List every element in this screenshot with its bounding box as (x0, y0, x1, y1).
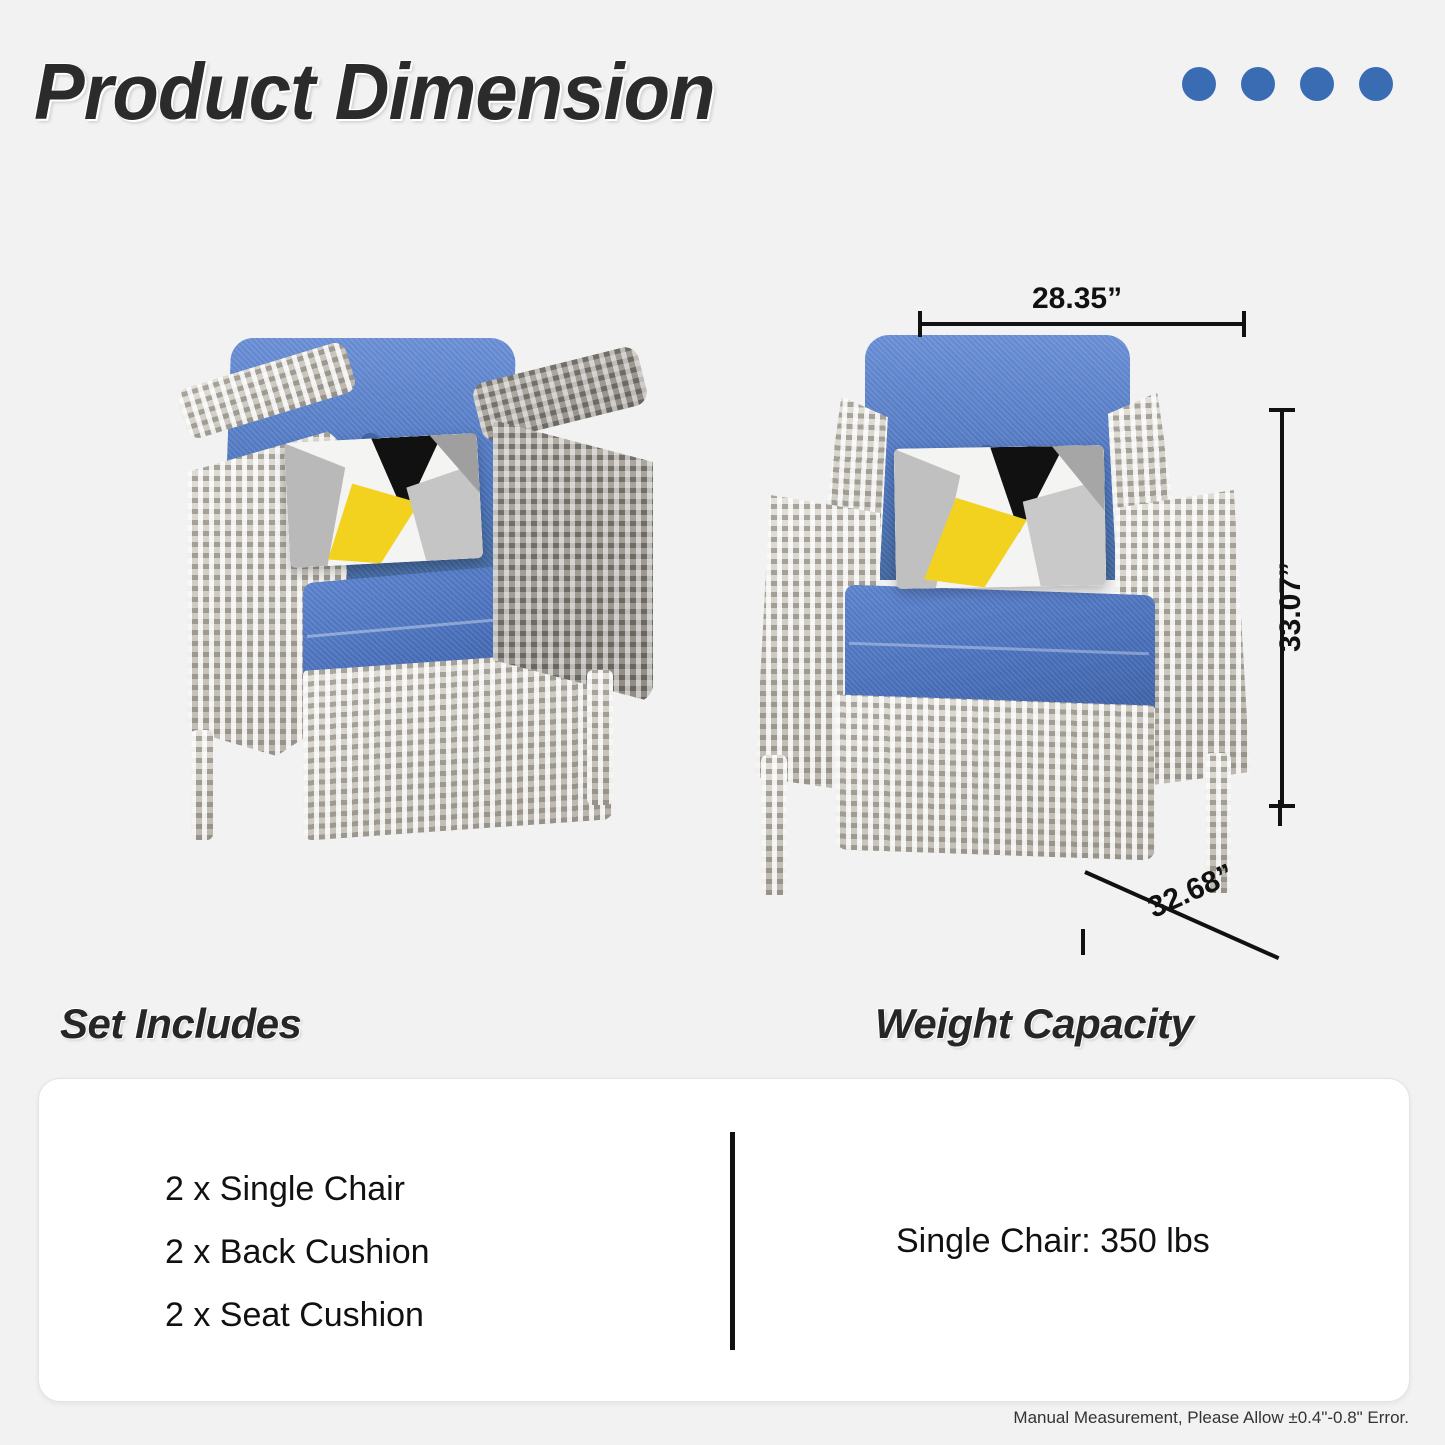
chair-front-panel-right (835, 694, 1155, 860)
chair-leg-front-left (191, 730, 213, 840)
list-item: 2 x Seat Cushion (165, 1284, 430, 1347)
chair-image-left (175, 330, 665, 970)
card-divider (730, 1132, 735, 1350)
dimension-depth-cap-top (1278, 800, 1282, 826)
dimension-height-label: 33.07” (1274, 562, 1308, 652)
list-item: 2 x Back Cushion (165, 1221, 430, 1284)
chair-side-panel-right (493, 402, 653, 702)
dot-1 (1182, 67, 1216, 101)
dot-2 (1241, 67, 1275, 101)
dimension-width-label: 28.35” (1032, 282, 1122, 316)
decorative-dots (1182, 67, 1393, 101)
dot-4 (1359, 67, 1393, 101)
dimension-width-cap-left (918, 311, 922, 337)
dimension-height-cap-top (1269, 408, 1295, 412)
measurement-disclaimer: Manual Measurement, Please Allow ±0.4"-0… (1013, 1408, 1409, 1428)
infographic-page: Product Dimension (0, 0, 1445, 1445)
set-includes-list: 2 x Single Chair 2 x Back Cushion 2 x Se… (165, 1158, 430, 1347)
weight-capacity-value: Single Chair: 350 lbs (896, 1222, 1210, 1261)
chair-leg-front-left-right-chair (761, 755, 787, 895)
weight-capacity-heading: Weight Capacity (875, 1000, 1193, 1048)
throw-pillow-right (894, 445, 1106, 589)
throw-pillow-left (284, 433, 483, 568)
dimension-height-cap-bottom (1269, 804, 1295, 808)
list-item: 2 x Single Chair (165, 1158, 430, 1221)
product-stage: 28.35” 33.07” 32.68” (0, 190, 1445, 980)
dimension-width-line (918, 322, 1246, 326)
dot-3 (1300, 67, 1334, 101)
page-title: Product Dimension (34, 44, 715, 140)
dimension-depth-cap-bottom (1081, 929, 1085, 955)
set-includes-heading: Set Includes (60, 1000, 301, 1048)
chair-leg-right-left-chair (587, 670, 613, 805)
dimension-width-cap-right (1242, 311, 1246, 337)
